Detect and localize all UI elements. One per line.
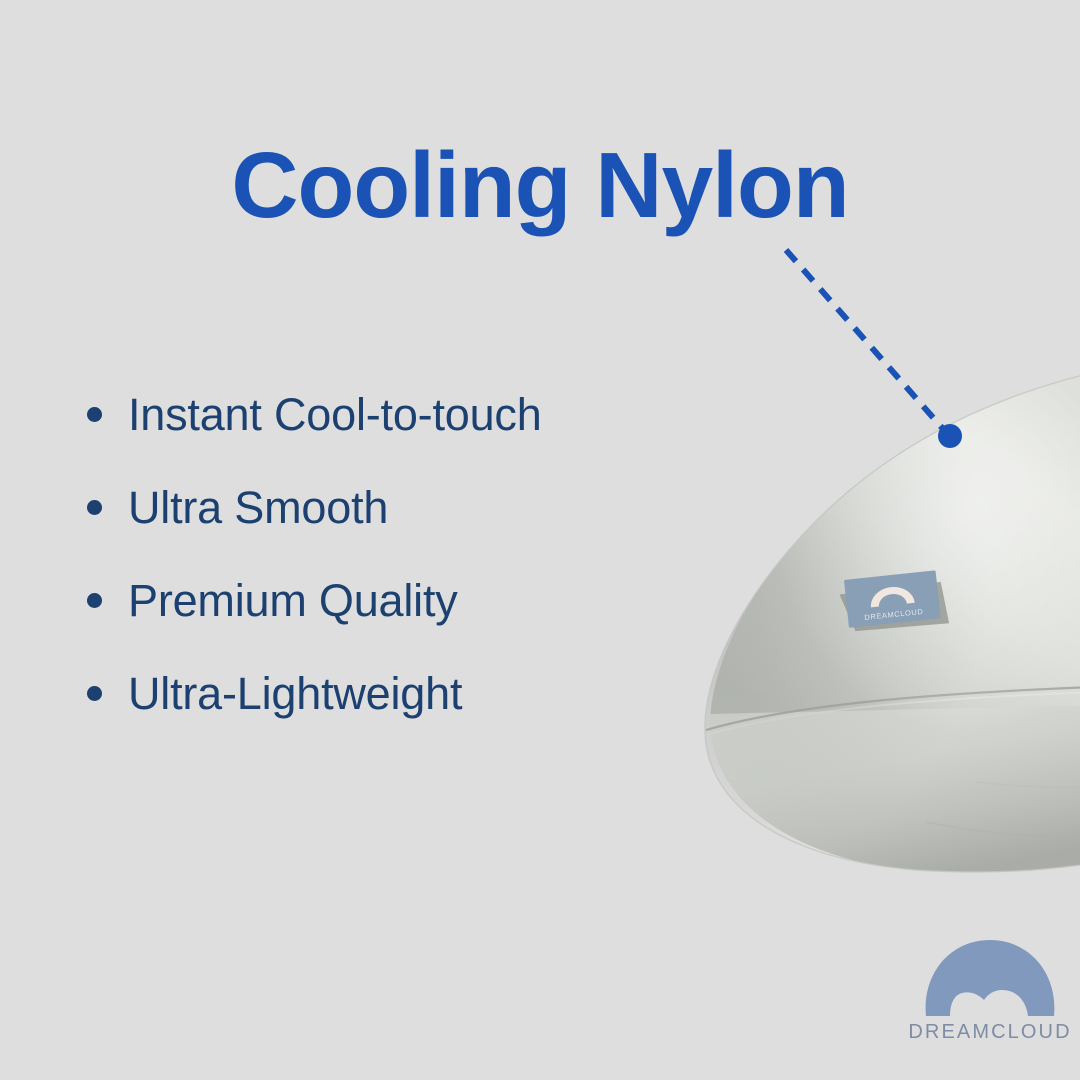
product-pillow-image: DREAMCLOUD — [676, 352, 1080, 882]
bullet-dot-icon — [87, 407, 102, 422]
feature-label: Ultra-Lightweight — [128, 671, 462, 716]
bullet-dot-icon — [87, 686, 102, 701]
bullet-dot-icon — [87, 500, 102, 515]
brand-logo: DREAMCLOUD — [900, 938, 1080, 1053]
pillow-illustration: DREAMCLOUD — [676, 352, 1080, 882]
list-item: Premium Quality — [82, 554, 702, 647]
list-item: Ultra Smooth — [82, 461, 702, 554]
list-item: Instant Cool-to-touch — [82, 368, 702, 461]
pillow-brand-tag: DREAMCLOUD — [838, 570, 949, 635]
brand-name-text: DREAMCLOUD — [900, 1022, 1080, 1042]
feature-list: Instant Cool-to-touch Ultra Smooth Premi… — [82, 368, 702, 740]
feature-label: Premium Quality — [128, 578, 458, 623]
dreamcloud-arch-cloud-icon — [922, 938, 1058, 1016]
feature-label: Ultra Smooth — [128, 485, 388, 530]
page-title: Cooling Nylon — [0, 139, 1080, 232]
promo-card: DREAMCLOUD Cooling Nylon Instant Cool-to… — [0, 0, 1080, 1080]
bullet-dot-icon — [87, 593, 102, 608]
feature-label: Instant Cool-to-touch — [128, 392, 542, 437]
list-item: Ultra-Lightweight — [82, 647, 702, 740]
